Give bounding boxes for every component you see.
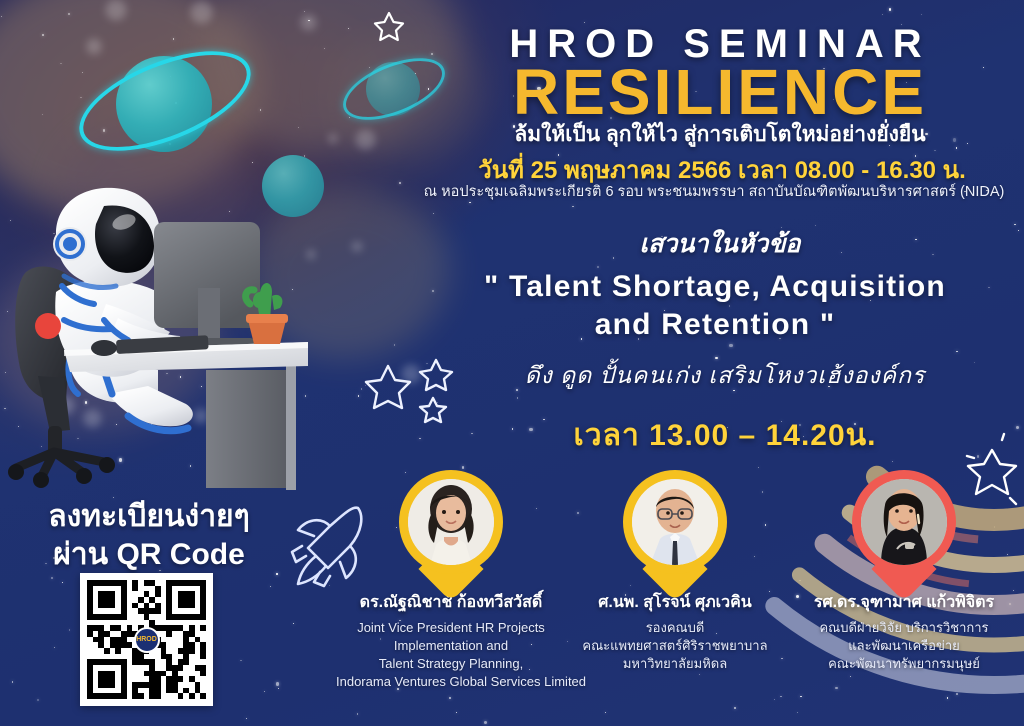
session-tagline: ดึง ดูด ปั้นคนเก่ง เสริมโหงวเฮ้งองค์กร xyxy=(440,358,1010,394)
speaker-role-line: คณะแพทยศาสตร์ศิริราชพยาบาล xyxy=(572,637,778,655)
speaker-role-line: Implementation and xyxy=(336,637,566,655)
subtitle: ล้มให้เป็น ลุกให้ไว สู่การเติบโตใหม่อย่า… xyxy=(420,118,1020,151)
speaker-role-line: Indorama Ventures Global Services Limite… xyxy=(336,673,566,691)
registration-heading: ลงทะเบียนง่ายๆ ผ่าน QR Code xyxy=(24,498,274,575)
seminar-poster: HROD SEMINAR RESILIENCE ล้มให้เป็น ลุกให… xyxy=(0,0,1024,726)
speaker-role: รองคณบดีคณะแพทยศาสตร์ศิริราชพยาบาลมหาวิท… xyxy=(572,619,778,673)
robot-at-desk-illustration xyxy=(8,180,308,500)
registration-line2: ผ่าน QR Code xyxy=(24,536,274,574)
venue-line: ณ หอประชุมเฉลิมพระเกียรติ 6 รอบ พระชนมพร… xyxy=(404,180,1024,203)
qr-code[interactable]: HROD xyxy=(80,573,213,706)
avatar xyxy=(408,479,494,565)
speaker-role-line: Talent Strategy Planning, xyxy=(336,655,566,673)
avatar xyxy=(632,479,718,565)
session-topic-line1: " Talent Shortage, Acquisition xyxy=(406,268,1024,306)
speaker-card: ศ.นพ. สุโรจน์ ศุภเวคิน รองคณบดีคณะแพทยศา… xyxy=(572,470,778,673)
speaker-role-line: คณบดีฝ่ายวิจัย บริการวิชาการ xyxy=(800,619,1008,637)
ringed-planet-large xyxy=(60,30,280,180)
avatar xyxy=(861,479,947,565)
speaker-role-line: มหาวิทยาลัยมหิดล xyxy=(572,655,778,673)
speaker-card: รศ.ดร.จุฑามาศ แก้วพิจิตร คณบดีฝ่ายวิจัย … xyxy=(800,470,1008,673)
speaker-role: Joint Vice President HR ProjectsImplemen… xyxy=(336,619,566,691)
speaker-role-line: คณะพัฒนาทรัพยากรมนุษย์ xyxy=(800,655,1008,673)
speaker-role-line: Joint Vice President HR Projects xyxy=(336,619,566,637)
page-title: RESILIENCE xyxy=(430,60,1010,124)
speaker-card: ดร.ณัฐณิชาช์ ก้องทวีสวัสดิ์ Joint Vice P… xyxy=(336,470,566,691)
registration-line1: ลงทะเบียนง่ายๆ xyxy=(24,498,274,536)
corner-star-doodle xyxy=(372,10,406,44)
speaker-role: คณบดีฝ่ายวิจัย บริการวิชาการและพัฒนาเครื… xyxy=(800,619,1008,673)
session-topic-line2: and Retention " xyxy=(406,306,1024,344)
panel-label: เสวนาในหัวข้อ xyxy=(430,224,1010,264)
qr-logo: HROD xyxy=(134,627,160,653)
session-topic: " Talent Shortage, Acquisition and Reten… xyxy=(406,268,1024,345)
session-time: เวลา 13.00 – 14.20น. xyxy=(440,412,1010,459)
computer-monitor xyxy=(154,222,260,348)
speaker-role-line: และพัฒนาเครือข่าย xyxy=(800,637,1008,655)
speaker-pin xyxy=(852,470,956,574)
speaker-pin xyxy=(623,470,727,574)
speaker-role-line: รองคณบดี xyxy=(572,619,778,637)
speaker-pin xyxy=(399,470,503,574)
